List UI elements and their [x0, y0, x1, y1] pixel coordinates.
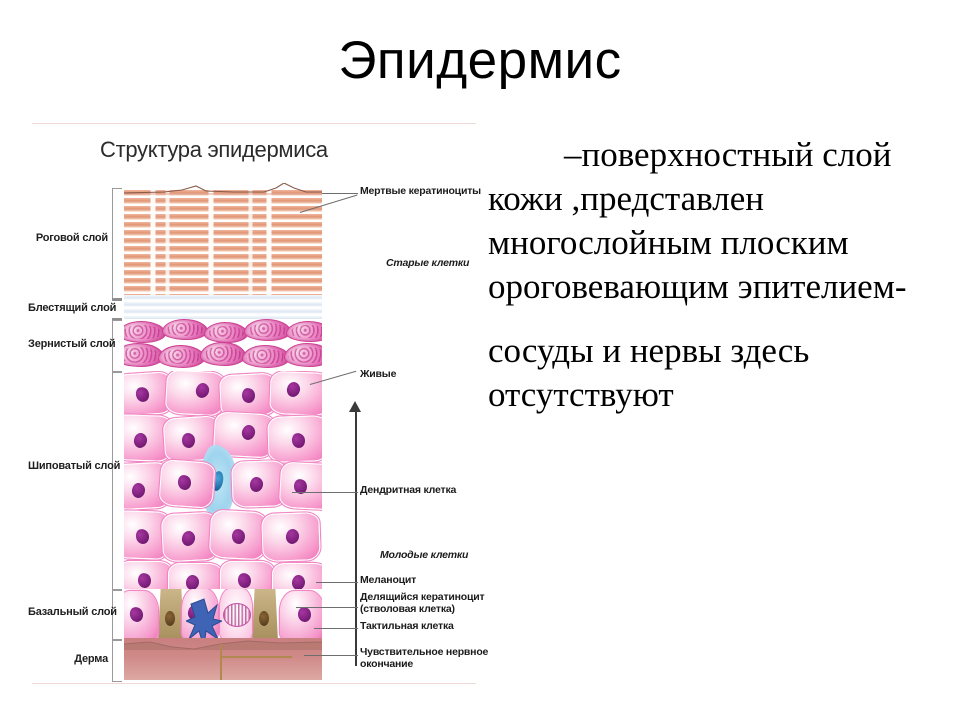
callout-sensory-nerve-ending-sub: окончание: [360, 659, 413, 671]
callout-dividing-keratinocyte-sub: (стволовая клетка): [360, 604, 455, 616]
leader-dendritic-cell: [292, 492, 358, 493]
callout-living-cells: Живые: [360, 369, 396, 381]
bracket-stratum-corneum: [112, 188, 122, 300]
leader-dividing-keratinocyte: [296, 607, 358, 608]
bracket-stratum-spinosum: [112, 372, 122, 590]
body-line-5: плоским: [721, 223, 849, 262]
bracket-dermis: [112, 640, 122, 682]
body-p2-line-1: сосуды и нервы: [488, 331, 722, 370]
leader-tactile-cell: [314, 628, 358, 629]
body-line-6: ороговевающим: [488, 267, 729, 306]
leader-dead-keratinocytes: [322, 193, 358, 194]
callout-tactile-cell: Тактильная клетка: [360, 621, 454, 633]
page-title: Эпидермис: [0, 34, 960, 87]
callout-sensory-nerve-ending: Чувствительное нервное: [360, 647, 488, 659]
body-line-7: эпителием-: [738, 267, 907, 306]
leader-melanocyte: [316, 582, 358, 583]
body-line-4: многослойным: [488, 223, 712, 262]
layer-label-stratum-basale: Базальный слой: [28, 606, 108, 618]
body-line-1: –поверхностный: [564, 135, 814, 174]
leader-sensory-nerve-ending: [304, 655, 358, 656]
body-paragraph-2: сосуды и нервы здесь отсутствуют: [488, 329, 948, 417]
body-text-block: –поверхностный слой кожи ,представлен мн…: [488, 133, 948, 417]
layer-label-stratum-corneum: Роговой слой: [28, 232, 108, 244]
tick-stratum-lucidum-top: [112, 298, 122, 301]
body-paragraph-1: –поверхностный слой кожи ,представлен мн…: [488, 133, 948, 309]
callout-melanocyte: Меланоцит: [360, 575, 416, 587]
layer-label-stratum-lucidum: Блестящий слой: [28, 302, 108, 314]
callout-young-cells: Молодые клетки: [380, 550, 468, 562]
body-line-3: ,представлен: [572, 179, 764, 218]
callout-old-cells: Старые клетки: [386, 258, 469, 270]
callout-dividing-keratinocyte: Делящийся кератиноцит: [360, 592, 484, 604]
layer-label-stratum-granulosum: Зернистый слой: [28, 338, 108, 350]
layer-label-stratum-spinosum: Шиповатый слой: [28, 460, 108, 472]
callout-dead-keratinocytes: Мертвые кератиноциты: [360, 186, 481, 198]
epidermis-diagram: Структура эпидермиса: [28, 120, 480, 686]
layer-label-dermis: Дерма: [28, 653, 108, 665]
callout-dendritic-cell: Дендритная клетка: [360, 485, 456, 497]
